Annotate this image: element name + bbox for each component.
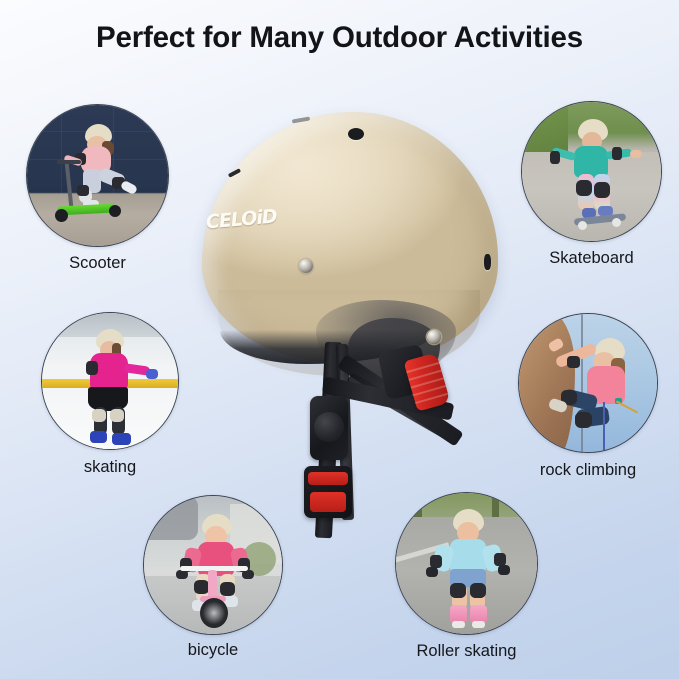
activity-label-rock-climbing: rock climbing [540,461,636,480]
activity-card-skateboard[interactable]: Skateboard [521,101,662,242]
activity-label-roller-skating: Roller skating [417,642,517,661]
activity-card-rock-climbing[interactable]: rock climbing [518,313,658,453]
activity-card-scooter[interactable]: Scooter [26,104,169,247]
vent-hole-top [348,128,364,140]
vent-hole-rear [484,254,491,270]
buckle-red-body [310,492,346,512]
skating-photo-scene [42,313,178,449]
strap-slider-knob [314,412,344,442]
activity-photo-skating [41,312,179,450]
skateboard-photo-scene [522,102,661,241]
rock-climbing-photo-scene [519,314,657,452]
chin-buckle [304,466,352,518]
activity-photo-skateboard [521,101,662,242]
product-infographic: Perfect for Many Outdoor Activities [0,0,679,679]
activity-label-skateboard: Skateboard [549,249,633,268]
activity-label-scooter: Scooter [69,254,126,273]
activity-label-skating: skating [84,458,136,477]
activity-photo-scooter [26,104,169,247]
activity-label-bicycle: bicycle [188,641,238,660]
page-title: Perfect for Many Outdoor Activities [0,21,679,55]
buckle-red-top [308,472,348,485]
activity-photo-rock-climbing [518,313,658,453]
rivet-rear [427,330,441,344]
rivet-front [299,259,313,273]
scooter-photo-scene [27,105,168,246]
product-helmet: CELOiD [196,104,506,524]
activity-card-skating[interactable]: skating [41,312,179,450]
